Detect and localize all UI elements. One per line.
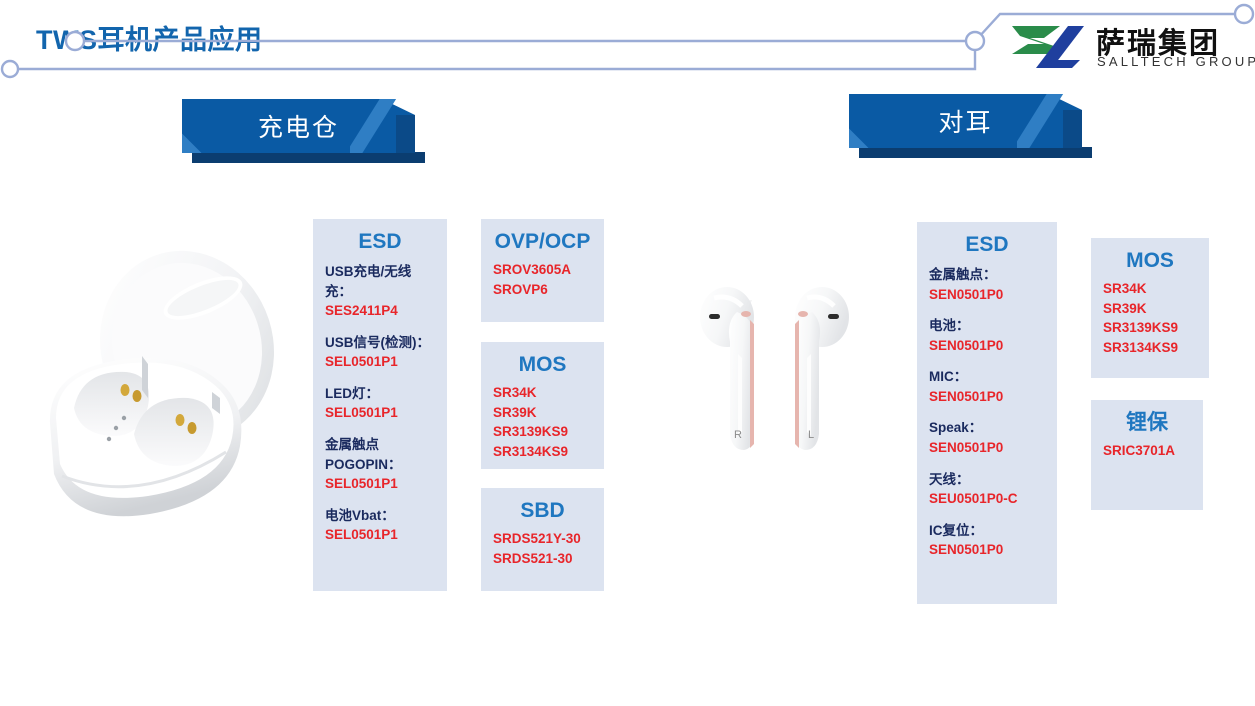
- box-rows: SR34K SR39K SR3139KS9 SR3134KS9: [1091, 279, 1209, 367]
- box-title: OVP/OCP: [481, 230, 604, 253]
- spec-label: 金属触点 POGOPIN：: [325, 435, 435, 474]
- spec-part-number: SR39K: [493, 403, 592, 423]
- spec-part-number: SR34K: [1103, 279, 1197, 299]
- spec-part-number: SEN0501P0: [929, 336, 1045, 356]
- spec-part-number: SEU0501P0-C: [929, 489, 1045, 509]
- spec-part-number: SEN0501P0: [929, 540, 1045, 560]
- box-rows: SRIC3701A: [1091, 441, 1203, 471]
- box-title: MOS: [481, 353, 604, 376]
- spec-part-number: SRDS521Y-30: [493, 529, 592, 549]
- spec-row: USB充电/无线充： SES2411P4: [325, 262, 435, 321]
- spec-row: 电池Vbat： SEL0501P1: [325, 506, 435, 545]
- spec-row: MIC： SEN0501P0: [929, 367, 1045, 406]
- banner-label-charging-case: 充电仓: [182, 99, 415, 153]
- box-ovp-ocp: OVP/OCP SROV3605A SROVP6: [481, 219, 604, 322]
- spec-label: 电池：: [929, 316, 1045, 336]
- earbud-label-r: R: [734, 429, 742, 441]
- banner-label-earbuds: 对耳: [849, 94, 1082, 148]
- spec-part-number: SEL0501P1: [325, 525, 435, 545]
- spec-part-number: SEL0501P1: [325, 352, 435, 372]
- box-title: SBD: [481, 499, 604, 522]
- box-right-esd: ESD 金属触点： SEN0501P0 电池： SEN0501P0 MIC： S…: [917, 222, 1057, 604]
- spec-row: 金属触点： SEN0501P0: [929, 265, 1045, 304]
- box-rows: SRDS521Y-30 SRDS521-30: [481, 529, 604, 578]
- spec-row: 金属触点 POGOPIN： SEL0501P1: [325, 435, 435, 494]
- spec-part-number: SEL0501P1: [325, 474, 435, 494]
- box-sbd: SBD SRDS521Y-30 SRDS521-30: [481, 488, 604, 591]
- box-rows: USB充电/无线充： SES2411P4 USB信号(检测)： SEL0501P…: [313, 262, 447, 555]
- box-title: 锂保: [1091, 411, 1203, 434]
- earbud-left: L: [795, 287, 849, 450]
- box-left-mos: MOS SR34K SR39K SR3139KS9 SR3134KS9: [481, 342, 604, 469]
- spec-part-number: SR34K: [493, 383, 592, 403]
- spec-part-number: SEL0501P1: [325, 403, 435, 423]
- spec-label: LED灯：: [325, 384, 435, 404]
- spec-part-number: SROVP6: [493, 280, 592, 300]
- box-right-mos: MOS SR34K SR39K SR3139KS9 SR3134KS9: [1091, 238, 1209, 378]
- spec-label: USB充电/无线充：: [325, 262, 435, 301]
- spec-part-number: SEN0501P0: [929, 438, 1045, 458]
- spec-label: 电池Vbat：: [325, 506, 435, 526]
- charging-case-image: [30, 238, 295, 543]
- box-title: MOS: [1091, 249, 1209, 272]
- banner-earbuds: 对耳: [849, 94, 1092, 158]
- spec-part-number: SRDS521-30: [493, 549, 592, 569]
- box-rows: SR34K SR39K SR3139KS9 SR3134KS9: [481, 383, 604, 471]
- spec-row: LED灯： SEL0501P1: [325, 384, 435, 423]
- box-left-esd: ESD USB充电/无线充： SES2411P4 USB信号(检测)： SEL0…: [313, 219, 447, 591]
- earbud-label-l: L: [808, 429, 814, 441]
- earbuds-image: R L: [672, 272, 872, 472]
- spec-part-number: SROV3605A: [493, 260, 592, 280]
- slide-canvas: TWS耳机产品应用 萨瑞集团 SALLTECH GROUP 充电仓 对耳: [0, 0, 1255, 706]
- spec-part-number: SR39K: [1103, 299, 1197, 319]
- banner-shadow: [859, 147, 1092, 158]
- spec-part-number: SRIC3701A: [1103, 441, 1191, 461]
- spec-label: 天线：: [929, 470, 1045, 490]
- spec-row: Speak： SEN0501P0: [929, 418, 1045, 457]
- spec-part-number: SR3134KS9: [493, 442, 592, 462]
- banner-shadow: [192, 152, 425, 163]
- spec-row: 天线： SEU0501P0-C: [929, 470, 1045, 509]
- salltech-logo-mark: [1008, 24, 1088, 70]
- spec-row: IC复位： SEN0501P0: [929, 521, 1045, 560]
- box-rows: 金属触点： SEN0501P0 电池： SEN0501P0 MIC： SEN05…: [917, 265, 1057, 570]
- company-logo: 萨瑞集团 SALLTECH GROUP: [1008, 22, 1243, 74]
- spec-part-number: SEN0501P0: [929, 387, 1045, 407]
- spec-label: Speak：: [929, 418, 1045, 438]
- logo-text-en: SALLTECH GROUP: [1097, 54, 1255, 69]
- spec-part-number: SR3139KS9: [1103, 318, 1197, 338]
- spec-part-number: SEN0501P0: [929, 285, 1045, 305]
- box-title: ESD: [313, 230, 447, 253]
- spec-row: USB信号(检测)： SEL0501P1: [325, 333, 435, 372]
- box-title: ESD: [917, 233, 1057, 256]
- spec-label: 金属触点：: [929, 265, 1045, 285]
- spec-part-number: SES2411P4: [325, 301, 435, 321]
- box-rows: SROV3605A SROVP6: [481, 260, 604, 309]
- spec-label: MIC：: [929, 367, 1045, 387]
- spec-part-number: SR3134KS9: [1103, 338, 1197, 358]
- earbud-right: R: [700, 287, 754, 450]
- box-battery-protection: 锂保 SRIC3701A: [1091, 400, 1203, 510]
- spec-label: IC复位：: [929, 521, 1045, 541]
- spec-label: USB信号(检测)：: [325, 333, 435, 353]
- spec-row: 电池： SEN0501P0: [929, 316, 1045, 355]
- banner-charging-case: 充电仓: [182, 99, 425, 163]
- spec-part-number: SR3139KS9: [493, 422, 592, 442]
